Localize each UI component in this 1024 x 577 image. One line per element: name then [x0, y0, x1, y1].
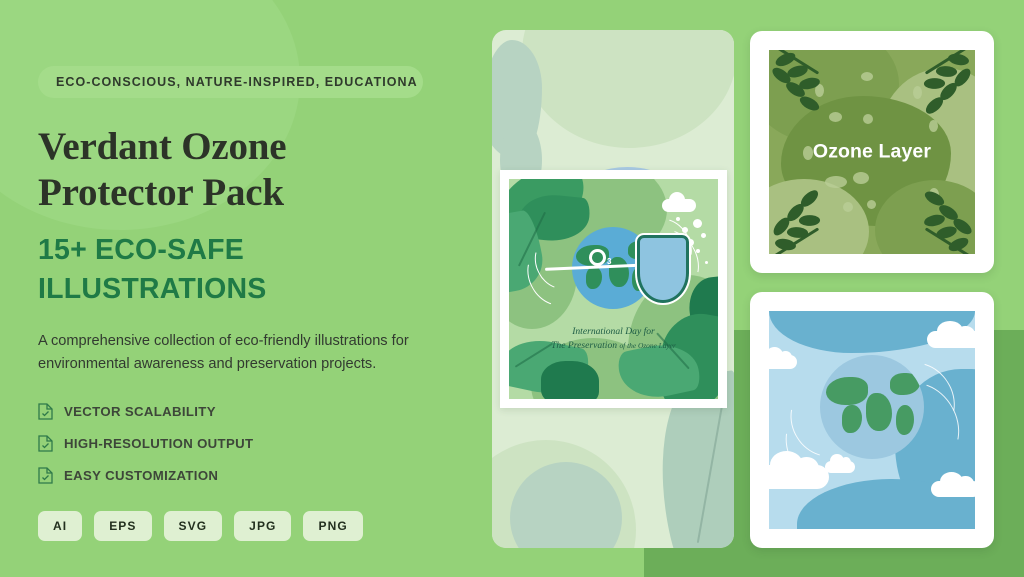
- leaf-shape: [541, 361, 599, 399]
- decorative-spot: [853, 172, 869, 184]
- format-chip-eps: EPS: [94, 511, 151, 541]
- card-label-ozone-layer: Ozone Layer: [769, 141, 975, 164]
- cloud-shape: [769, 355, 797, 369]
- decorative-spot: [861, 72, 873, 81]
- decorative-spot: [825, 176, 847, 188]
- shield-icon: [637, 235, 689, 303]
- subheadline: 15+ ECO-SAFE ILLUSTRATIONS: [38, 231, 478, 308]
- document-check-icon: [38, 403, 53, 420]
- leaf-blade: [947, 51, 970, 68]
- bubble-dot: [701, 233, 706, 238]
- botanical-artwork: Ozone Layer: [769, 50, 975, 254]
- globe-icon: [820, 355, 924, 459]
- category-badge: ECO-CONSCIOUS, NATURE-INSPIRED, EDUCATIO…: [38, 66, 423, 98]
- bubble-dot: [676, 217, 680, 221]
- page-title: Verdant Ozone Protector Pack: [38, 124, 478, 215]
- ozone-o-symbol: [589, 249, 606, 266]
- decorative-spot: [843, 202, 853, 212]
- bubble-dot: [705, 261, 708, 264]
- decorative-spot: [867, 200, 876, 209]
- cloud-shape: [825, 461, 855, 473]
- continent-shape: [890, 373, 920, 395]
- poster-title-line-2: The Preservation of the Ozone Layer: [509, 339, 718, 353]
- continent-shape: [609, 257, 629, 287]
- cloud-shape: [662, 199, 696, 212]
- preview-card-ozone-layer[interactable]: Ozone Layer: [750, 31, 994, 273]
- headline-line-1: Verdant Ozone: [38, 124, 478, 170]
- continent-shape: [826, 377, 868, 405]
- sky-globe-artwork: [769, 311, 975, 529]
- poster-artwork: 3 International Day for The Preservation…: [509, 179, 718, 399]
- format-chip-jpg: JPG: [234, 511, 291, 541]
- headline-line-2: Protector Pack: [38, 170, 478, 216]
- poster-title-line-2-small: of the Ozone Layer: [619, 341, 675, 350]
- preview-card-earth-globe[interactable]: [750, 292, 994, 548]
- decorative-spot: [913, 86, 922, 99]
- feature-list: VECTOR SCALABILITY HIGH-RESOLUTION OUTPU…: [38, 403, 478, 484]
- continent-shape: [896, 405, 914, 435]
- left-content-panel: ECO-CONSCIOUS, NATURE-INSPIRED, EDUCATIO…: [38, 0, 478, 577]
- cloud-shape: [931, 481, 975, 497]
- cloud-shape: [769, 465, 829, 489]
- description-text: A comprehensive collection of eco-friend…: [38, 330, 430, 375]
- feature-label: EASY CUSTOMIZATION: [64, 468, 218, 483]
- format-chip-ai: AI: [38, 511, 82, 541]
- bubble-dot: [693, 219, 702, 228]
- continent-shape: [866, 393, 892, 431]
- decorative-spot: [929, 120, 938, 132]
- document-check-icon: [38, 467, 53, 484]
- list-item: VECTOR SCALABILITY: [38, 403, 478, 420]
- cloud-shape: [927, 331, 975, 348]
- decorative-spot: [829, 112, 842, 122]
- file-format-list: AI EPS SVG JPG PNG: [38, 511, 478, 541]
- subheadline-line-1: 15+ ECO-SAFE: [38, 231, 478, 269]
- format-chip-svg: SVG: [164, 511, 223, 541]
- feature-label: VECTOR SCALABILITY: [64, 404, 216, 419]
- format-chip-png: PNG: [303, 511, 362, 541]
- continent-shape: [842, 405, 862, 433]
- promo-banner: ECO-CONSCIOUS, NATURE-INSPIRED, EDUCATIO…: [0, 0, 1024, 577]
- list-item: EASY CUSTOMIZATION: [38, 467, 478, 484]
- subheadline-line-2: ILLUSTRATIONS: [38, 270, 478, 308]
- poster-title-line-1: International Day for: [509, 325, 718, 339]
- decorative-circle: [522, 30, 734, 148]
- poster-title-line-2-main: The Preservation: [551, 340, 617, 351]
- list-item: HIGH-RESOLUTION OUTPUT: [38, 435, 478, 452]
- poster-title: International Day for The Preservation o…: [509, 325, 718, 354]
- decorative-spot: [863, 114, 873, 124]
- document-check-icon: [38, 435, 53, 452]
- poster-card[interactable]: 3 International Day for The Preservation…: [500, 170, 727, 408]
- feature-label: HIGH-RESOLUTION OUTPUT: [64, 436, 253, 451]
- continent-shape: [586, 267, 602, 289]
